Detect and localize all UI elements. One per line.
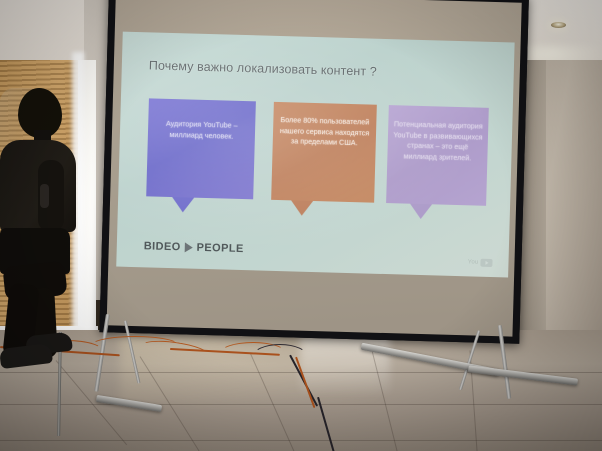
presenter-silhouette — [0, 88, 110, 418]
ceiling-spotlight-icon — [551, 22, 566, 28]
screen-surface: Почему важно локализовать контент ? Ауди… — [107, 0, 522, 337]
bubble-text: Аудитория YouTube – миллиард человек. — [153, 118, 251, 142]
video-people-logo: ВІDEO PEOPLE — [144, 240, 244, 255]
logo-text-people: PEOPLE — [196, 242, 243, 255]
slide-bubble: Более 80% пользователей нашего сервиса н… — [271, 102, 377, 203]
projector-screen-assembly[interactable]: Почему важно локализовать контент ? Ауди… — [99, 0, 529, 356]
projected-slide: Почему важно локализовать контент ? Ауди… — [116, 32, 514, 278]
slide-bubble: Аудитория YouTube – миллиард человек. — [146, 98, 256, 199]
slide-title: Почему важно локализовать контент ? — [149, 58, 377, 78]
slide-bubble-group: Аудитория YouTube – миллиард человек. Бо… — [145, 98, 488, 237]
bubble-body — [146, 98, 256, 199]
presentation-photo-scene: Почему важно локализовать контент ? Ауди… — [0, 0, 602, 451]
bubble-text: Потенциальная аудитория YouTube в развив… — [392, 119, 483, 163]
logo-text-video: ВІDEO — [144, 240, 181, 253]
bubble-tail-icon — [172, 197, 194, 213]
microphone-icon — [40, 184, 49, 208]
slide-bubble: Потенциальная аудитория YouTube в развив… — [386, 105, 489, 206]
watermark-play-button-icon — [480, 259, 492, 267]
bubble-tail-icon — [410, 204, 432, 220]
cable-segment — [295, 357, 315, 408]
watermark-label: You — [468, 259, 479, 265]
bubble-tail-icon — [291, 200, 313, 216]
cable-segment-dark — [317, 397, 337, 451]
play-triangle-icon — [184, 242, 192, 252]
youtube-logo-icon: You — [468, 258, 493, 267]
bubble-text: Более 80% пользователей нашего сервиса н… — [278, 115, 372, 149]
